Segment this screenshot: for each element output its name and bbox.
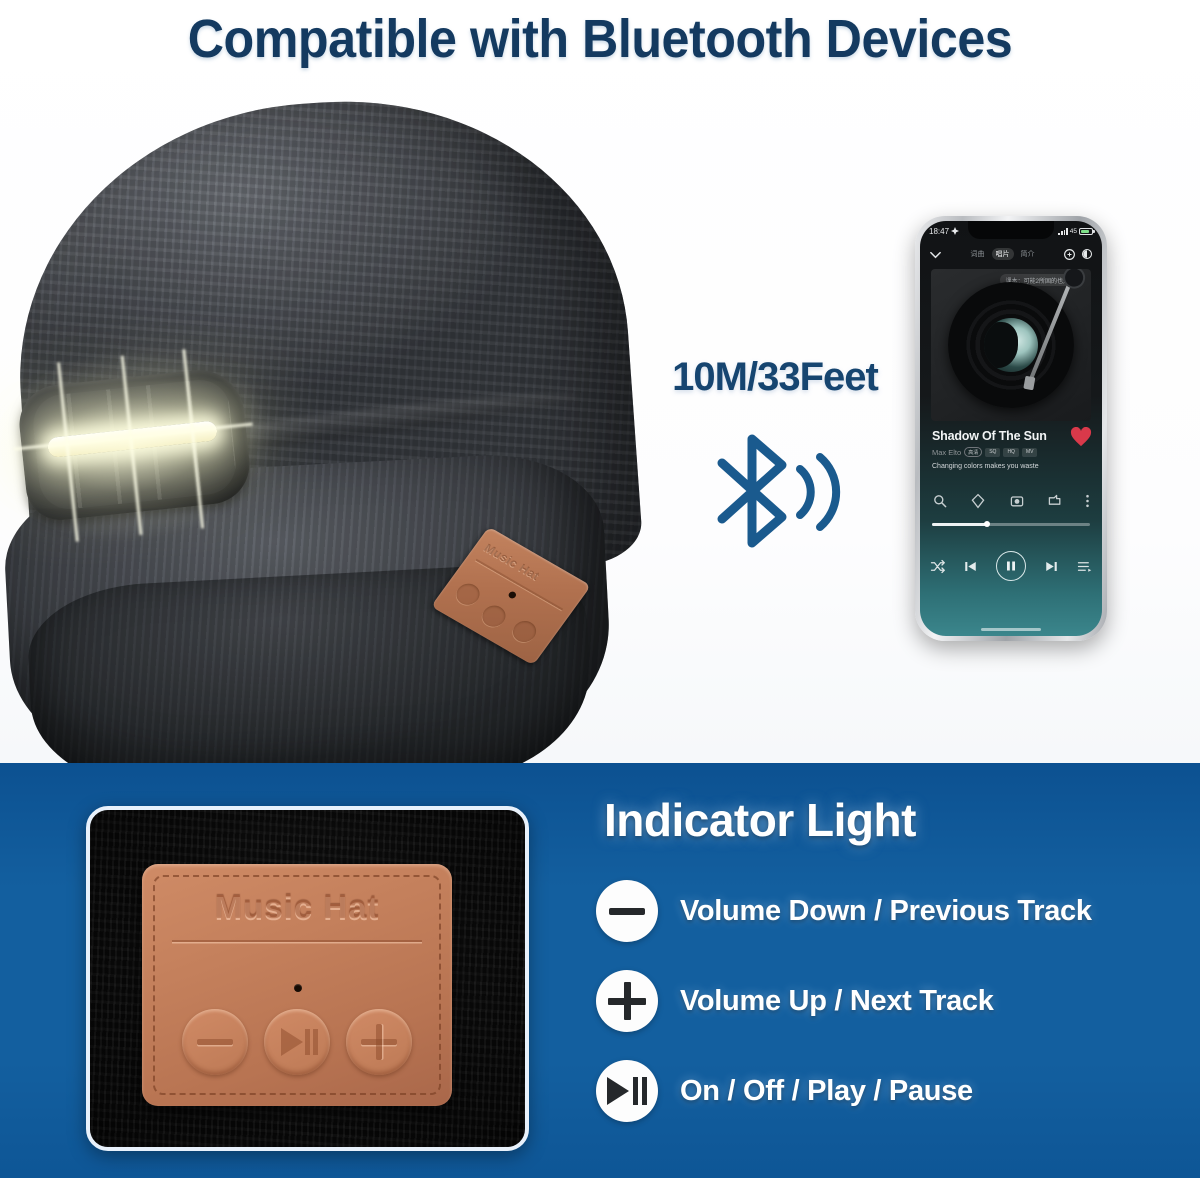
- legend-row-volume-down: Volume Down / Previous Track: [596, 880, 1156, 942]
- tab-lyrics[interactable]: 词曲: [967, 248, 989, 260]
- beanie-patch-play-button: [478, 602, 510, 631]
- player-header: 词曲 唱片 简介: [920, 243, 1102, 265]
- download-icon[interactable]: [1009, 493, 1025, 509]
- album-art-area: 课本：可能2所固的也是…: [931, 269, 1091, 421]
- favorite-heart-icon[interactable]: [1070, 427, 1092, 447]
- indicator-legend: Volume Down / Previous Track Volume Up /…: [596, 880, 1156, 1150]
- pause-bar-1: [633, 1077, 638, 1105]
- progress-bar[interactable]: [932, 523, 1090, 526]
- patch-plus-button[interactable]: [346, 1009, 412, 1075]
- status-bar: 18:47 45: [920, 224, 1102, 238]
- share-icon[interactable]: [1047, 493, 1063, 509]
- pause-bar-1: [305, 1029, 310, 1055]
- progress-track[interactable]: [932, 523, 1090, 526]
- artist-name[interactable]: Max Elto: [932, 448, 961, 457]
- patch-brand-text: Music Hat: [142, 888, 452, 926]
- comment-icon[interactable]: [970, 493, 986, 509]
- patch-indicator-led: [294, 984, 302, 992]
- signal-bars-icon: [1058, 228, 1067, 235]
- pause-icon[interactable]: [996, 551, 1026, 581]
- next-track-icon[interactable]: [1044, 559, 1059, 574]
- play-triangle: [607, 1077, 629, 1105]
- patch-play-pause-button[interactable]: [264, 1009, 330, 1075]
- legend-label-volume-down: Volume Down / Previous Track: [680, 895, 1092, 928]
- tab-record[interactable]: 唱片: [992, 248, 1014, 260]
- play-icon: [281, 1028, 303, 1056]
- top-section: Compatible with Bluetooth Devices: [0, 0, 1200, 763]
- led-light-module: [16, 366, 254, 524]
- control-patch-photo: Music Hat: [86, 806, 529, 1151]
- minus-glyph: [609, 908, 645, 915]
- track-title: Shadow Of The Sun: [932, 429, 1090, 443]
- beanie-patch-minus-button: [452, 580, 484, 609]
- location-icon: [951, 227, 959, 235]
- bluetooth-icon: [690, 425, 870, 560]
- chevron-down-icon[interactable]: [929, 248, 942, 261]
- progress-knob[interactable]: [984, 521, 990, 527]
- previous-track-icon[interactable]: [963, 559, 978, 574]
- legend-row-play-pause: On / Off / Play / Pause: [596, 1060, 1156, 1122]
- range-label: 10M/33Feet: [640, 355, 910, 400]
- plus-icon[interactable]: [596, 970, 658, 1032]
- transport-controls: [930, 551, 1092, 581]
- lyric-line: Changing colors makes you waste: [932, 463, 1090, 470]
- page-title: Compatible with Bluetooth Devices: [42, 8, 1158, 70]
- beanie-patch-led-dot: [507, 590, 517, 599]
- leather-control-patch: Music Hat: [142, 864, 452, 1106]
- badge-hq: HQ: [1003, 448, 1019, 457]
- product-infographic: Compatible with Bluetooth Devices: [0, 0, 1200, 1200]
- legend-label-volume-up: Volume Up / Next Track: [680, 985, 994, 1018]
- badge-sq: SQ: [985, 448, 1000, 457]
- battery-percent: 45: [1070, 228, 1077, 235]
- panel-title: Indicator Light: [604, 793, 916, 847]
- track-info: Shadow Of The Sun Max Elto 高清 SQ HQ MV C…: [932, 429, 1090, 470]
- play-pause-glyph: [607, 1077, 647, 1105]
- sound-effect-icon[interactable]: [1063, 248, 1076, 261]
- minus-icon[interactable]: [596, 880, 658, 942]
- tab-intro[interactable]: 简介: [1017, 248, 1039, 260]
- night-mode-icon[interactable]: [1081, 248, 1093, 260]
- plus-glyph-vertical: [624, 982, 631, 1020]
- plus-icon-vertical: [376, 1024, 382, 1060]
- battery-icon: [1079, 228, 1093, 235]
- player-tabs: 词曲 唱片 简介: [967, 248, 1039, 260]
- album-cover-art: [984, 318, 1038, 372]
- shuffle-icon[interactable]: [930, 559, 945, 574]
- beanie-product-photo: Music Hat: [0, 95, 680, 735]
- track-subline: Max Elto 高清 SQ HQ MV: [932, 447, 1090, 457]
- badge-mv: MV: [1022, 448, 1038, 457]
- beanie-patch-plus-button: [509, 617, 541, 646]
- home-indicator: [981, 628, 1041, 631]
- legend-label-play-pause: On / Off / Play / Pause: [680, 1075, 973, 1108]
- player-actions: [932, 493, 1090, 509]
- patch-minus-button[interactable]: [182, 1009, 248, 1075]
- phone-screen: 18:47 45 词曲 唱片 简介: [920, 221, 1102, 636]
- badge-hd: 高清: [964, 447, 982, 457]
- legend-row-volume-up: Volume Up / Next Track: [596, 970, 1156, 1032]
- pause-bar-2: [642, 1077, 647, 1105]
- more-icon[interactable]: [1085, 493, 1090, 509]
- smartphone-mockup: 18:47 45 词曲 唱片 简介: [915, 216, 1107, 641]
- progress-fill: [932, 523, 987, 526]
- pause-bar-2: [313, 1029, 318, 1055]
- status-time: 18:47: [929, 227, 949, 236]
- vinyl-record: [948, 282, 1074, 408]
- patch-divider-line: [172, 940, 422, 942]
- minus-icon: [197, 1039, 233, 1045]
- play-pause-icon[interactable]: [596, 1060, 658, 1122]
- search-icon[interactable]: [932, 493, 948, 509]
- playlist-icon[interactable]: [1077, 559, 1092, 574]
